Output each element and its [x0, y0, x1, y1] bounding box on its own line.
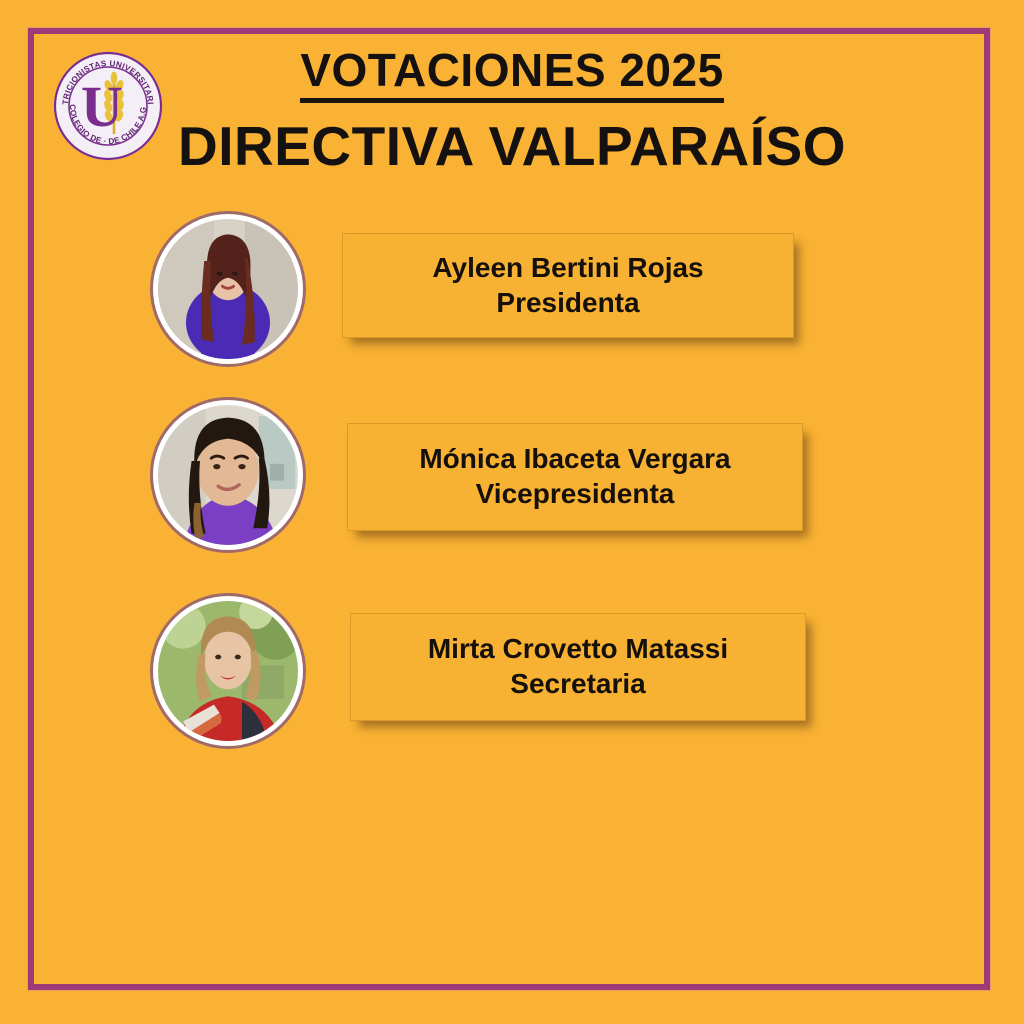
- avatar: [150, 397, 306, 553]
- page-subtitle: DIRECTIVA VALPARAÍSO: [0, 117, 1024, 176]
- member-role: Vicepresidenta: [476, 477, 675, 512]
- list-item: Ayleen Bertini Rojas Presidenta: [0, 205, 1024, 395]
- board-member-list: Ayleen Bertini Rojas Presidenta: [0, 205, 1024, 775]
- page-title: VOTACIONES 2025: [300, 46, 723, 103]
- avatar: [150, 593, 306, 749]
- member-name-card[interactable]: Ayleen Bertini Rojas Presidenta: [342, 233, 794, 338]
- portrait-ayleen-bertini-rojas: [158, 219, 298, 359]
- member-name: Mirta Crovetto Matassi: [428, 632, 728, 667]
- member-name-card[interactable]: Mirta Crovetto Matassi Secretaria: [350, 613, 806, 721]
- poster-heading: VOTACIONES 2025 DIRECTIVA VALPARAÍSO: [0, 46, 1024, 177]
- portrait-mirta-crovetto-matassi: [158, 601, 298, 741]
- member-name-card[interactable]: Mónica Ibaceta Vergara Vicepresidenta: [347, 423, 803, 531]
- member-role: Presidenta: [496, 286, 639, 321]
- member-name: Ayleen Bertini Rojas: [432, 251, 703, 286]
- avatar: [150, 211, 306, 367]
- list-item: Mirta Crovetto Matassi Secretaria: [0, 585, 1024, 775]
- member-name: Mónica Ibaceta Vergara: [419, 442, 730, 477]
- portrait-monica-ibaceta-vergara: [158, 405, 298, 545]
- member-role: Secretaria: [510, 667, 645, 702]
- poster-canvas: NUTRICIONISTAS UNIVERSITARIOS COLEGIO DE…: [0, 0, 1024, 1024]
- list-item: Mónica Ibaceta Vergara Vicepresidenta: [0, 395, 1024, 585]
